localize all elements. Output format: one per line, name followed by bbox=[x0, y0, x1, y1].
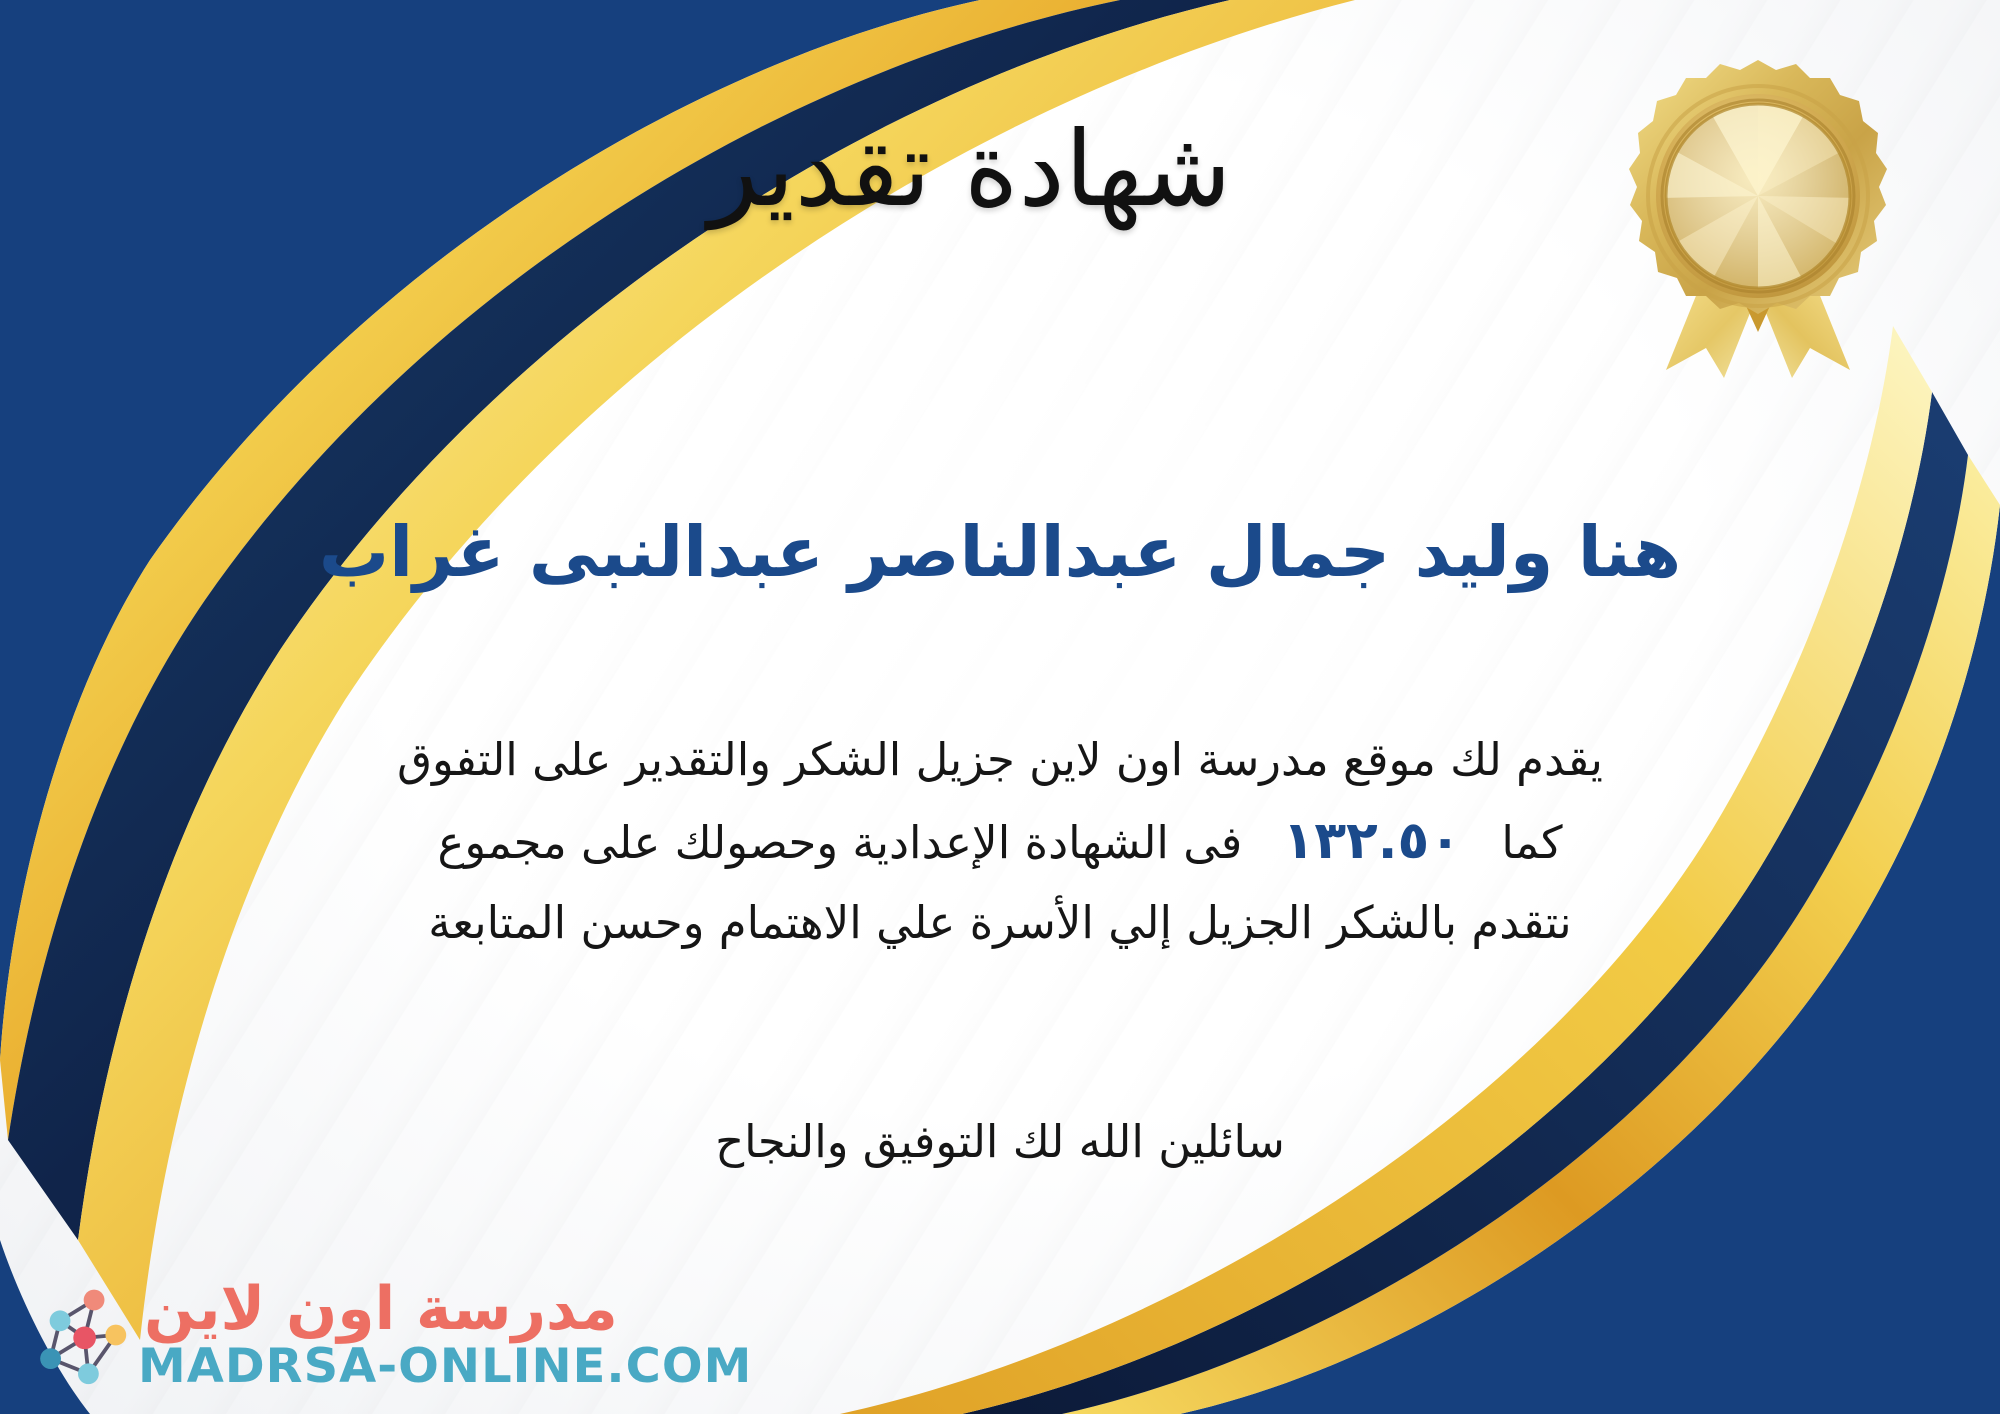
certificate-canvas: شهادة تقدير هنا وليد جمال عبدالناصر عبدا… bbox=[0, 0, 2000, 1414]
certificate-body: يقدم لك موقع مدرسة اون لاين جزيل الشكر و… bbox=[0, 722, 2000, 961]
logo-domain: MADRSA-ONLINE.COM bbox=[138, 1343, 752, 1390]
logo-text: مدرسة اون لاين MADRSA-ONLINE.COM bbox=[144, 1279, 746, 1390]
score-value: ١٣٢.٥٠ bbox=[1257, 811, 1487, 871]
certificate-content: شهادة تقدير هنا وليد جمال عبدالناصر عبدا… bbox=[0, 0, 2000, 1414]
body-line-2: كما ١٣٢.٥٠ فى الشهادة الإعدادية وحصولك ع… bbox=[90, 798, 1910, 885]
gold-award-medal-icon bbox=[1608, 48, 1908, 378]
network-nodes-icon bbox=[26, 1283, 130, 1387]
closing-line: سائلين الله لك التوفيق والنجاح bbox=[0, 1115, 2000, 1168]
logo-arabic-name: مدرسة اون لاين bbox=[144, 1279, 618, 1339]
body-line-2-suffix: كما bbox=[1501, 816, 1562, 869]
body-line-1: يقدم لك موقع مدرسة اون لاين جزيل الشكر و… bbox=[90, 722, 1910, 798]
recipient-name: هنا وليد جمال عبدالناصر عبدالنبى غراب bbox=[0, 512, 2000, 593]
body-line-2-prefix: فى الشهادة الإعدادية وحصولك على مجموع bbox=[437, 816, 1242, 869]
site-logo[interactable]: مدرسة اون لاين MADRSA-ONLINE.COM bbox=[26, 1279, 746, 1390]
body-line-3: نتقدم بالشكر الجزيل إلي الأسرة علي الاهت… bbox=[90, 885, 1910, 961]
